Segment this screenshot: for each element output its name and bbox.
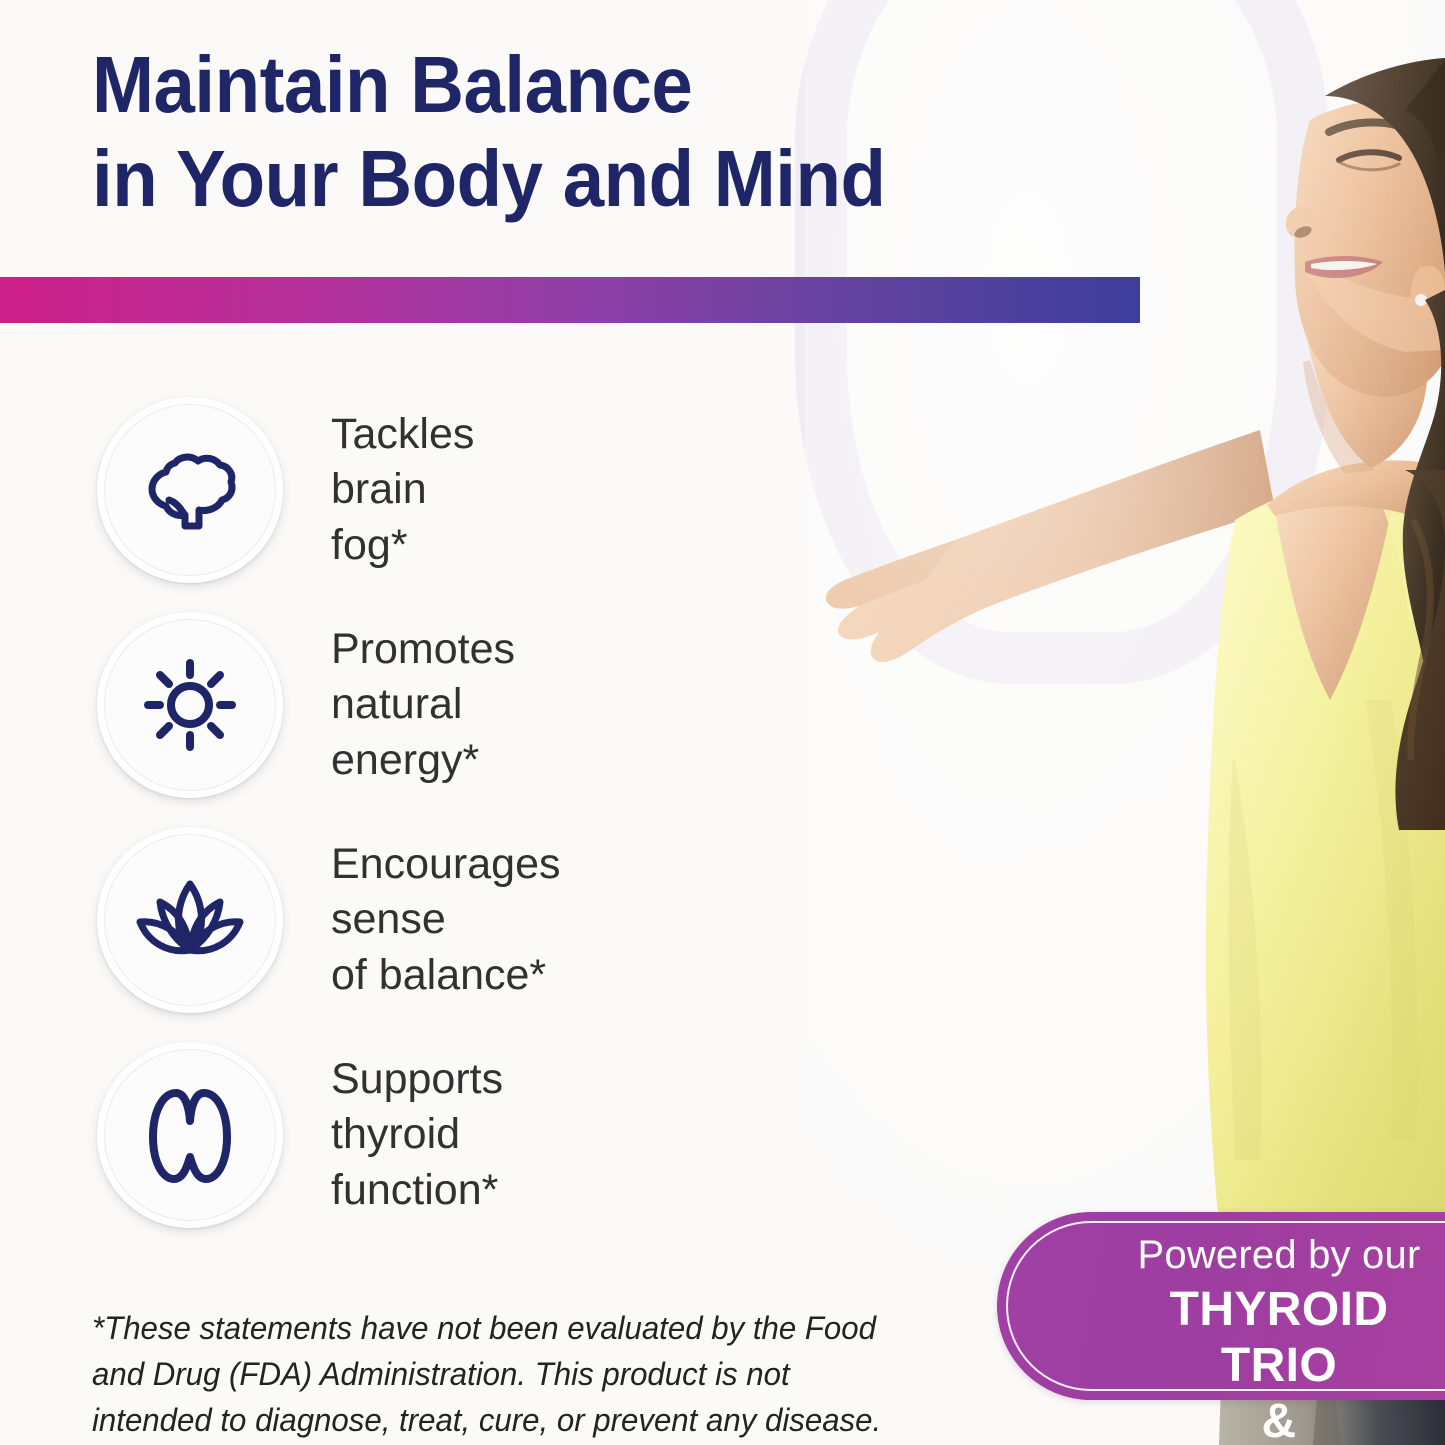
badge-text-block: Powered by our THYROID TRIO & SUPERFOODS <box>1105 1232 1445 1445</box>
badge-line-thyroid-trio: THYROID TRIO <box>1105 1282 1445 1393</box>
feature-label: Tackles brain fog* <box>331 407 474 572</box>
lotus-icon <box>97 827 283 1013</box>
badge-line-powered-by: Powered by our <box>1105 1232 1445 1278</box>
powered-by-badge: Powered by our THYROID TRIO & SUPERFOODS <box>997 1212 1445 1400</box>
infographic-canvas: Maintain Balance in Your Body and Mind T… <box>0 0 1445 1445</box>
feature-label: Promotes natural energy* <box>331 622 515 787</box>
feature-item-natural-energy: Promotes natural energy* <box>97 612 515 798</box>
thyroid-icon <box>97 1042 283 1228</box>
feature-item-thyroid-function: Supports thyroid function* <box>97 1042 503 1228</box>
feature-item-brain-fog: Tackles brain fog* <box>97 397 474 583</box>
feature-item-sense-of-balance: Encourages sense of balance* <box>97 827 561 1013</box>
feature-label: Supports thyroid function* <box>331 1052 503 1217</box>
feature-label: Encourages sense of balance* <box>331 837 561 1002</box>
brain-icon <box>97 397 283 583</box>
fda-disclaimer: *These statements have not been evaluate… <box>92 1305 908 1443</box>
page-title: Maintain Balance in Your Body and Mind <box>92 38 885 227</box>
accent-gradient-bar <box>0 277 1140 323</box>
badge-line-superfoods: & SUPERFOODS <box>1105 1394 1445 1445</box>
sun-icon <box>97 612 283 798</box>
